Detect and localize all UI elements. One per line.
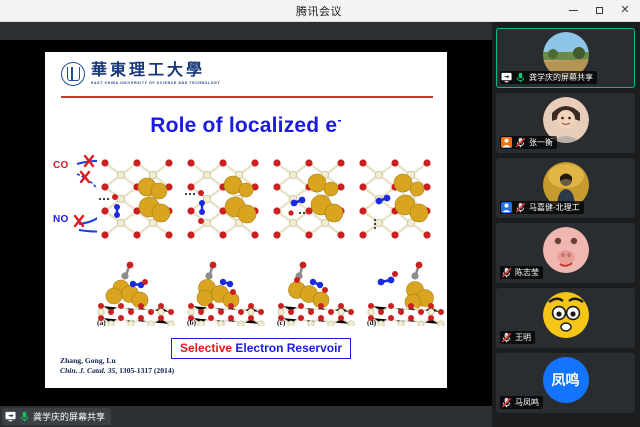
microphone-muted-icon <box>501 397 512 408</box>
participant-tile[interactable]: 张一衡 <box>496 93 635 153</box>
microphone-muted-icon <box>515 202 526 213</box>
panel-label: (c) <box>277 318 285 327</box>
participant-tile[interactable]: 凤鸣 马凤鸣 <box>496 353 635 413</box>
participant-name: 陈志莹 <box>515 267 539 278</box>
microphone-muted-icon <box>501 332 512 343</box>
no-label: NO <box>53 214 69 225</box>
microphone-on-icon <box>515 72 526 83</box>
participant-name: 马凤鸣 <box>515 397 539 408</box>
university-seal-icon <box>61 62 85 86</box>
avatar-initials: 凤鸣 <box>552 370 580 390</box>
participant-name: 龚学庆的屏幕共享 <box>529 72 593 83</box>
panel-label: (b) <box>187 318 196 327</box>
citation-authors: Zhang, Gong, Lu <box>60 356 174 366</box>
crystal-slab <box>269 157 349 247</box>
co-label: CO <box>53 160 69 171</box>
crystal-slab-row <box>97 157 437 247</box>
participant-tile[interactable]: 龚学庆的屏幕共享 <box>496 28 635 88</box>
citation-pages: , 1305-1317 (2014) <box>115 366 174 375</box>
citation-volume: 35 <box>106 366 116 375</box>
microphone-muted-icon <box>515 137 526 148</box>
screen-share-status-bar: 龚学庆的屏幕共享 <box>0 406 492 427</box>
cluster-panel-row: (a) <box>93 260 443 326</box>
user-icon <box>501 202 512 213</box>
participant-badge: 马凤鸣 <box>500 396 543 409</box>
participant-badge: 王明 <box>500 331 535 344</box>
avatar <box>543 227 589 273</box>
header-divider <box>61 96 433 98</box>
shared-screen-stage[interactable]: 華東理工大學 EAST CHINA UNIVERSITY OF SCIENCE … <box>0 40 492 406</box>
crystal-slab <box>355 157 435 247</box>
slide-title-superscript: - <box>337 112 342 127</box>
screen-share-icon <box>5 411 16 422</box>
participant-tile[interactable]: 陈志莹 <box>496 223 635 283</box>
slide-title: Role of localized e- <box>45 112 447 138</box>
university-name-en: EAST CHINA UNIVERSITY OF SCIENCE AND TEC… <box>91 81 220 85</box>
conclusion-word-reservoir: Electron Reservoir <box>235 341 342 355</box>
maximize-button[interactable] <box>586 0 612 22</box>
participant-name: 马嘉健-北理工 <box>529 202 580 213</box>
participant-badge: 张一衡 <box>500 136 557 149</box>
cluster-panel: (d) <box>363 260 447 326</box>
cluster-panel: (c) <box>273 260 359 326</box>
microphone-icon <box>19 411 30 422</box>
university-name-cn: 華東理工大學 <box>91 63 220 79</box>
cluster-panel: (a) <box>93 260 179 326</box>
participant-badge: 陈志莹 <box>500 266 543 279</box>
maximize-icon <box>596 7 603 14</box>
slide-header: 華東理工大學 EAST CHINA UNIVERSITY OF SCIENCE … <box>61 62 433 96</box>
close-icon: ✕ <box>620 5 629 16</box>
share-status-label: 龚学庆的屏幕共享 <box>33 410 105 423</box>
minimize-button[interactable] <box>560 0 586 22</box>
presentation-slide: 華東理工大學 EAST CHINA UNIVERSITY OF SCIENCE … <box>45 52 447 388</box>
minimize-icon <box>569 10 578 11</box>
participant-name: 张一衡 <box>529 137 553 148</box>
participant-tile[interactable]: 马嘉健-北理工 <box>496 158 635 218</box>
participant-name: 王明 <box>515 332 531 343</box>
participant-tile[interactable]: 王明 <box>496 288 635 348</box>
participant-badge: 龚学庆的屏幕共享 <box>500 71 597 84</box>
avatar: 凤鸣 <box>543 357 589 403</box>
meeting-window: 腾讯会议 ✕ 華東理工大學 EAST CHINA UNIVERSITY OF S… <box>0 0 640 427</box>
reactant-annotations: CO NO <box>45 152 105 247</box>
conclusion-box: Selective Electron Reservoir <box>171 338 351 359</box>
window-controls: ✕ <box>560 0 638 22</box>
host-icon <box>501 137 512 148</box>
university-logo: 華東理工大學 EAST CHINA UNIVERSITY OF SCIENCE … <box>61 62 433 86</box>
panel-label: (a) <box>97 318 106 327</box>
share-status-pill[interactable]: 龚学庆的屏幕共享 <box>2 408 111 425</box>
avatar <box>543 292 589 338</box>
citation: Zhang, Gong, Lu Chin. J. Catal. 35, 1305… <box>60 356 174 377</box>
slide-title-text: Role of localized e <box>150 114 337 137</box>
participant-badge: 马嘉健-北理工 <box>500 201 584 214</box>
window-titlebar: 腾讯会议 ✕ <box>0 0 640 22</box>
microphone-muted-icon <box>501 267 512 278</box>
participant-rail[interactable]: 龚学庆的屏幕共享 <box>492 22 640 427</box>
crystal-slab <box>183 157 263 247</box>
panel-label: (d) <box>367 318 376 327</box>
screen-share-icon <box>501 72 512 83</box>
citation-journal: Chin. J. Catal. <box>60 366 106 375</box>
close-button[interactable]: ✕ <box>612 0 638 22</box>
cluster-panel: (b) <box>183 260 269 326</box>
window-title: 腾讯会议 <box>78 3 560 19</box>
crystal-slab <box>97 157 177 247</box>
conclusion-word-selective: Selective <box>180 341 232 355</box>
